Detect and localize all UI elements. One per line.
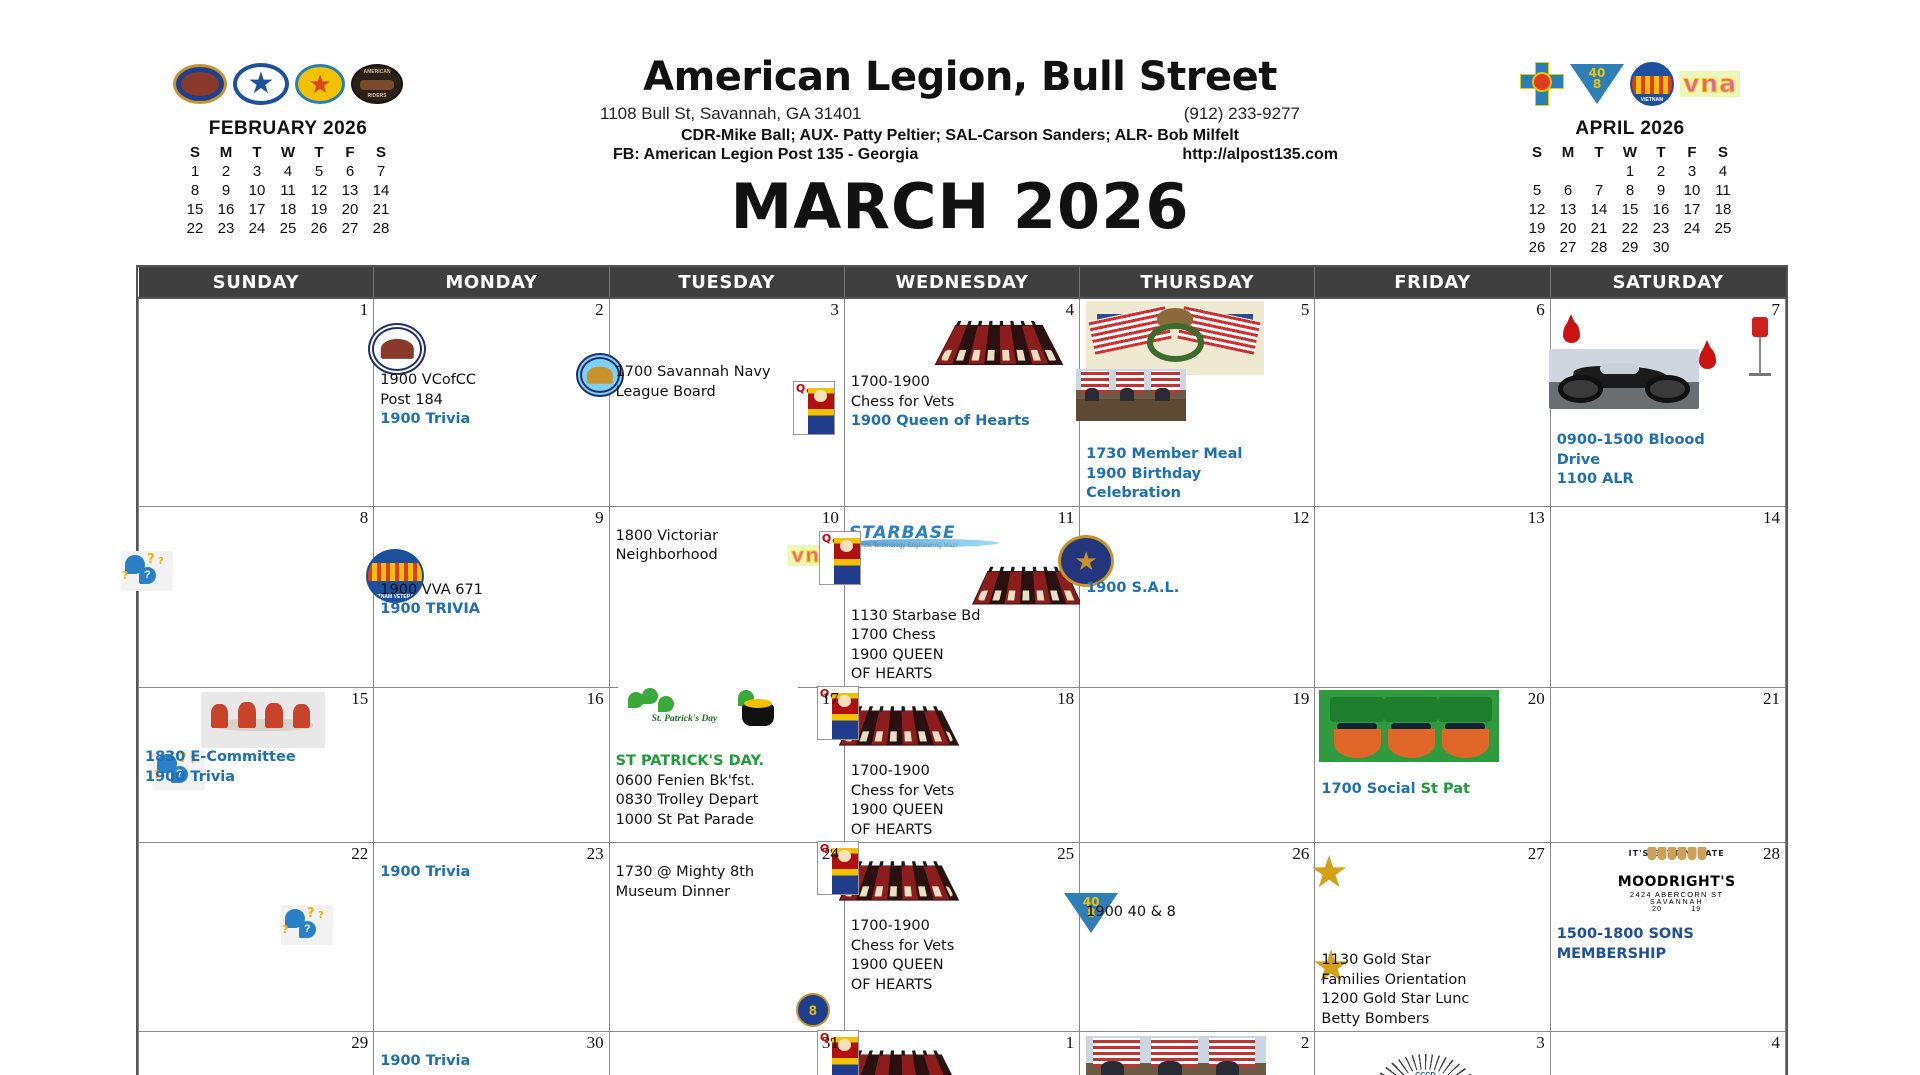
calendar-event[interactable]: 1100 ALR	[1557, 470, 1780, 490]
prev-month-dow-4: T	[304, 143, 335, 162]
day-events	[1080, 688, 1314, 842]
prev-month-day[interactable]: 10	[242, 181, 273, 200]
day-number: 9	[595, 508, 604, 528]
prev-month-day[interactable]: 17	[242, 200, 273, 219]
calendar-event[interactable]: 0830 Trolley Depart	[616, 791, 839, 811]
previous-month-title: FEBRUARY 2026	[138, 118, 438, 140]
next-month-dow-1: M	[1553, 143, 1584, 162]
calendar-day-cell[interactable]: 16	[374, 687, 609, 842]
next-month-day[interactable]: 19	[1522, 219, 1553, 238]
page-header: ★ ★ AMERICANRIDERS FEBRUARY 2026 SMTWTFS…	[0, 0, 1920, 262]
previous-month-mini-calendar: ★ ★ AMERICANRIDERS FEBRUARY 2026 SMTWTFS…	[138, 52, 438, 238]
prev-month-day[interactable]: 13	[335, 181, 366, 200]
prev-month-day[interactable]: 27	[335, 219, 366, 238]
next-month-day[interactable]: 20	[1553, 219, 1584, 238]
next-month-day[interactable]: 25	[1708, 219, 1739, 238]
prev-month-day[interactable]: 1	[180, 162, 211, 181]
prev-month-day[interactable]: 24	[242, 219, 273, 238]
calendar-event[interactable]: 1900 40 & 8	[1086, 903, 1309, 923]
day-number: 27	[1528, 844, 1545, 864]
calendar-event[interactable]: ST PATRICK'S DAY.	[616, 752, 839, 772]
calendar-event[interactable]: Betty Bombers	[1321, 1010, 1544, 1030]
calendar-event[interactable]: 1900 S.A.L.	[1086, 579, 1309, 599]
next-month-day	[1522, 162, 1553, 181]
calendar-event[interactable]: Drive	[1557, 451, 1780, 471]
calendar-table: SUNDAYMONDAYTUESDAYWEDNESDAYTHURSDAYFRID…	[138, 267, 1786, 1075]
day-number: 2	[1301, 1033, 1310, 1053]
calendar-day-cell[interactable]: 27★ ★1130 Gold StarFamilies Orientation1…	[1315, 843, 1550, 1032]
day-events	[610, 1032, 844, 1075]
day-events	[1315, 299, 1549, 506]
day-events	[139, 299, 373, 506]
calendar-day-cell[interactable]: 31	[609, 1032, 844, 1075]
calendar-day-cell[interactable]: 4 Q♥1700-1900Chess for Vets1900 Queen of…	[844, 298, 1079, 506]
calendar-day-cell[interactable]: 8????	[139, 506, 374, 687]
calendar-event[interactable]: 1500-1800 SONS	[1557, 925, 1780, 945]
day-number: 30	[587, 1033, 604, 1053]
page-title: MARCH 2026	[560, 176, 1360, 238]
calendar-day-cell[interactable]: 18 Q♥1700-1900Chess for Vets1900 QUEENOF…	[844, 687, 1079, 842]
calendar-event[interactable]: 1900 TRIVIA	[380, 600, 603, 620]
calendar-week-row: 15 ????1830 E-Committee1900 Trivia1617 S…	[139, 687, 1786, 842]
right-emblem-row: 408 VIETNAM vna	[1480, 52, 1780, 116]
day-number: 19	[1292, 689, 1309, 709]
day-number: 13	[1528, 508, 1545, 528]
calendar-dow-header-monday: MONDAY	[374, 267, 609, 298]
american-legion-auxiliary-emblem-icon	[173, 64, 227, 104]
calendar-body: 121900 VCofCCPost 1841900 Trivia31700 Sa…	[139, 298, 1786, 1075]
day-events: 1900 Trivia	[374, 1032, 608, 1075]
prev-month-day[interactable]: 21	[366, 200, 397, 219]
calendar-dow-header-friday: FRIDAY	[1315, 267, 1550, 298]
prev-month-day[interactable]: 5	[304, 162, 335, 181]
prev-month-week: 1234567	[180, 162, 397, 181]
prev-month-week: 22232425262728	[180, 219, 397, 238]
next-month-day[interactable]: 24	[1677, 219, 1708, 238]
day-events	[1551, 507, 1785, 687]
st-patricks-parade-photo	[1319, 690, 1499, 762]
next-month-day[interactable]: 8	[1615, 181, 1646, 200]
month-calendar: SUNDAYMONDAYTUESDAYWEDNESDAYTHURSDAYFRID…	[136, 265, 1788, 1075]
next-month-dow-2: T	[1584, 143, 1615, 162]
next-month-day[interactable]: 26	[1522, 238, 1553, 257]
next-month-dow-4: T	[1646, 143, 1677, 162]
prev-month-dow-0: S	[180, 143, 211, 162]
queen-of-hearts-card-icon: Q♥	[819, 531, 861, 585]
day-number: 21	[1763, 689, 1780, 709]
next-month-day[interactable]: 4	[1708, 162, 1739, 181]
calendar-day-cell[interactable]: 1 Q♥1700-1900Chess for Vets1900 QUEENHEA…	[844, 1032, 1079, 1075]
day-number: 4	[1772, 1033, 1781, 1053]
address-row: 1108 Bull St, Savannah, GA 31401 (912) 2…	[560, 104, 1360, 126]
calendar-day-cell[interactable]: 264081900 40 & 8	[1080, 843, 1315, 1032]
calendar-header-row: SUNDAYMONDAYTUESDAYWEDNESDAYTHURSDAYFRID…	[139, 267, 1786, 298]
calendar-day-cell[interactable]: 25 Q♥1700-1900Chess for Vets1900 QUEENOF…	[844, 843, 1079, 1032]
calendar-event[interactable]: 1900 Trivia	[380, 410, 603, 430]
prev-month-dow-5: F	[335, 143, 366, 162]
forty-and-eight-triangle-emblem-icon: 408	[1570, 64, 1624, 104]
next-month-week: 12131415161718	[1522, 200, 1739, 219]
calendar-event[interactable]: 1900 QUEEN	[851, 646, 1074, 666]
calendar-event[interactable]: OF HEARTS	[851, 821, 1074, 841]
queen-of-hearts-card-icon: Q♥	[793, 381, 835, 435]
calendar-day-cell[interactable]: 21900 VCofCCPost 1841900 Trivia	[374, 298, 609, 506]
calendar-event[interactable]: 1730 @ Mighty 8th	[616, 863, 839, 883]
calendar-day-cell[interactable]: 10vna1800 VictoriarNeighborhood	[609, 506, 844, 687]
vietnam-veterans-emblem-icon: VIETNAM	[1630, 62, 1674, 106]
calendar-day-cell[interactable]: 3 CCCDFIRST DAY GOOD FRIDAY	[1315, 1032, 1550, 1075]
calendar-week-row: 8????9VIETNAM VETERANS1900 VVA 6711900 T…	[139, 506, 1786, 687]
day-number: 25	[1057, 844, 1074, 864]
prev-month-day[interactable]: 25	[273, 219, 304, 238]
calendar-day-cell[interactable]: 17 St. Patrick's Day ST PATRICK'S DAY.06…	[609, 687, 844, 842]
prev-month-dow-1: M	[211, 143, 242, 162]
calendar-day-cell[interactable]: 7 0900-1500 BlooodDrive1100 ALR	[1550, 298, 1785, 506]
prev-month-day[interactable]: 6	[335, 162, 366, 181]
calendar-event[interactable]: 1130 Starbase Bd	[851, 607, 1074, 627]
american-legion-riders-emblem-icon: AMERICANRIDERS	[351, 64, 403, 104]
calendar-week-row: 22????231900 Trivia24 81730 @ Mighty 8th…	[139, 843, 1786, 1032]
calendar-event[interactable]: 1700 Social St Pat	[1321, 780, 1544, 800]
calendar-event[interactable]: 0900-1500 Bloood	[1557, 431, 1780, 451]
day-number: 12	[1292, 508, 1309, 528]
calendar-event[interactable]: 1900 Queen of Hearts	[851, 412, 1074, 432]
facebook-line: FB: American Legion Post 135 - Georgia	[613, 146, 918, 164]
calendar-event[interactable]: 1900 Birthday	[1086, 465, 1309, 485]
next-month-day[interactable]: 15	[1615, 200, 1646, 219]
calendar-dow-header-thursday: THURSDAY	[1080, 267, 1315, 298]
prev-month-dow-3: W	[273, 143, 304, 162]
day-number: 28	[1763, 844, 1780, 864]
day-number: 5	[1301, 300, 1310, 320]
calendar-day-cell[interactable]: 6	[1315, 298, 1550, 506]
calendar-dow-header-wednesday: WEDNESDAY	[844, 267, 1079, 298]
day-number: 24	[822, 844, 839, 864]
day-number: 10	[822, 508, 839, 528]
calendar-event[interactable]: Chess for Vets	[851, 782, 1074, 802]
next-month-grid: SMTWTFS 12345678910111213141516171819202…	[1522, 143, 1739, 257]
next-month-week: 1234	[1522, 162, 1739, 181]
calendar-day-cell[interactable]: 231900 Trivia	[374, 843, 609, 1032]
next-month-day[interactable]: 17	[1677, 200, 1708, 219]
day-number: 22	[351, 844, 368, 864]
calendar-event[interactable]: 1900 Trivia	[380, 1052, 603, 1072]
calendar-day-cell[interactable]: 24 81730 @ Mighty 8thMuseum Dinner	[609, 843, 844, 1032]
day-events: 1900 Trivia	[374, 843, 608, 1031]
calendar-dow-header-saturday: SATURDAY	[1550, 267, 1785, 298]
member-meeting-photo	[1076, 369, 1186, 421]
day-number: 31	[822, 1033, 839, 1053]
prev-month-day[interactable]: 19	[304, 200, 335, 219]
day-number: 4	[1066, 300, 1075, 320]
calendar-event[interactable]: MEMBERSHIP	[1557, 945, 1780, 965]
calendar-event[interactable]: 1700-1900	[851, 762, 1074, 782]
next-month-day	[1708, 238, 1739, 257]
prev-month-day[interactable]: 11	[273, 181, 304, 200]
iv-stand-icon	[1752, 317, 1771, 376]
next-month-day[interactable]: 16	[1646, 200, 1677, 219]
next-month-week: 2627282930	[1522, 238, 1739, 257]
calendar-day-cell[interactable]: 22????	[139, 843, 374, 1032]
calendar-event[interactable]: Celebration	[1086, 484, 1309, 504]
next-month-day[interactable]: 7	[1584, 181, 1615, 200]
prev-month-day[interactable]: 7	[366, 162, 397, 181]
prev-month-day[interactable]: 20	[335, 200, 366, 219]
prev-month-day[interactable]: 28	[366, 219, 397, 238]
day-events: 1800 VictoriarNeighborhood	[610, 507, 844, 687]
next-month-day[interactable]: 5	[1522, 181, 1553, 200]
calendar-day-cell[interactable]: 9VIETNAM VETERANS1900 VVA 6711900 TRIVIA	[374, 506, 609, 687]
previous-month-grid: SMTWTFS 12345678910111213141516171819202…	[180, 143, 397, 238]
next-month-day[interactable]: 22	[1615, 219, 1646, 238]
next-month-dow-5: F	[1677, 143, 1708, 162]
prev-month-day[interactable]: 15	[180, 200, 211, 219]
calendar-day-cell[interactable]: 19	[1080, 687, 1315, 842]
day-number: 23	[587, 844, 604, 864]
calendar-event[interactable]: Neighborhood	[616, 546, 839, 566]
next-month-day[interactable]: 3	[1677, 162, 1708, 181]
next-month-dow-6: S	[1708, 143, 1739, 162]
prev-month-day[interactable]: 3	[242, 162, 273, 181]
day-number: 3	[1536, 1033, 1545, 1053]
next-month-week: 567891011	[1522, 181, 1739, 200]
calendar-event[interactable]: Post 184	[380, 391, 603, 411]
prev-month-day[interactable]: 2	[211, 162, 242, 181]
prev-month-day[interactable]: 26	[304, 219, 335, 238]
gold-star-icon: ★	[1309, 851, 1543, 895]
calendar-week-row: 29????301900 Trivia311 Q♥1700-1900Chess …	[139, 1032, 1786, 1075]
calendar-day-cell[interactable]: 12★1900 S.A.L.	[1080, 506, 1315, 687]
st-patricks-day-clover-art: St. Patrick's Day	[618, 686, 798, 730]
officers-line: CDR-Mike Ball; AUX- Patty Peltier; SAL-C…	[560, 127, 1360, 145]
day-events	[1315, 507, 1549, 687]
prev-month-week: 15161718192021	[180, 200, 397, 219]
calendar-event[interactable]: 0600 Fenien Bk'fst.	[616, 772, 839, 792]
sons-of-the-american-legion-emblem-icon: ★	[295, 64, 345, 104]
calendar-day-cell[interactable]: 301900 Trivia	[374, 1032, 609, 1075]
next-month-week: 19202122232425	[1522, 219, 1739, 238]
calendar-day-cell[interactable]: 29????	[139, 1032, 374, 1075]
prev-month-day[interactable]: 22	[180, 219, 211, 238]
prev-month-day[interactable]: 12	[304, 181, 335, 200]
prev-month-day[interactable]: 18	[273, 200, 304, 219]
contact-row: FB: American Legion Post 135 - Georgia h…	[560, 146, 1360, 167]
calendar-day-cell[interactable]: 1	[139, 298, 374, 506]
calendar-day-cell[interactable]: 15 ????1830 E-Committee1900 Trivia	[139, 687, 374, 842]
calendar-dow-header-sunday: SUNDAY	[139, 267, 374, 298]
next-month-day[interactable]: 12	[1522, 200, 1553, 219]
day-number: 7	[1772, 300, 1781, 320]
day-number: 17	[822, 689, 839, 709]
address-text: 1108 Bull St, Savannah, GA 31401	[600, 104, 862, 124]
calendar-event[interactable]: 1900 Trivia	[380, 863, 603, 883]
next-month-day[interactable]: 18	[1708, 200, 1739, 219]
next-month-day	[1553, 162, 1584, 181]
member-meeting-photo	[1086, 1036, 1266, 1075]
day-events	[374, 688, 608, 842]
good-friday-cross-art-icon: CCCDFIRST DAY	[1371, 1054, 1479, 1075]
next-month-day[interactable]: 10	[1677, 181, 1708, 200]
calendar-day-cell[interactable]: 4	[1550, 1032, 1785, 1075]
day-number: 6	[1536, 300, 1545, 320]
blood-drop-icon	[1699, 347, 1719, 373]
next-month-day[interactable]: 6	[1553, 181, 1584, 200]
next-month-mini-calendar: 408 VIETNAM vna APRIL 2026 SMTWTFS 12345…	[1480, 52, 1780, 257]
prev-month-day[interactable]: 23	[211, 219, 242, 238]
calendar-event[interactable]: 1900 VCofCC	[380, 371, 603, 391]
left-emblem-row: ★ ★ AMERICANRIDERS	[138, 52, 438, 116]
chessboard-icon	[849, 1046, 949, 1075]
forty-and-eight-cross-emblem-icon	[1520, 62, 1564, 106]
next-month-day[interactable]: 30	[1646, 238, 1677, 257]
calendar-page: ★ ★ AMERICANRIDERS FEBRUARY 2026 SMTWTFS…	[0, 0, 1920, 1075]
organization-name: American Legion, Bull Street	[560, 56, 1360, 98]
next-month-day	[1677, 238, 1708, 257]
day-number: 29	[351, 1033, 368, 1053]
calendar-day-cell[interactable]: 13	[1315, 506, 1550, 687]
prev-month-day[interactable]: 9	[211, 181, 242, 200]
vna-logo-icon: vna	[1680, 71, 1740, 97]
next-month-day[interactable]: 27	[1553, 238, 1584, 257]
blood-drop-icon	[1563, 321, 1583, 347]
next-month-day[interactable]: 11	[1708, 181, 1739, 200]
calendar-event[interactable]: 1800 Victoriar	[616, 527, 839, 547]
day-number: 11	[1058, 508, 1074, 528]
calendar-event[interactable]: 1900 VVA 671	[380, 581, 603, 601]
next-month-day[interactable]: 2	[1646, 162, 1677, 181]
moodrights-logo-icon: IT'S GETTIN' LATE MOODRIGHT'S 2424 ABERC…	[1597, 849, 1757, 911]
calendar-day-cell[interactable]: 28 IT'S GETTIN' LATE MOODRIGHT'S 2424 AB…	[1550, 843, 1785, 1032]
day-number: 26	[1292, 844, 1309, 864]
day-number: 8	[360, 508, 369, 528]
calendar-event[interactable]: 1700 Chess	[851, 626, 1074, 646]
calendar-dow-header-tuesday: TUESDAY	[609, 267, 844, 298]
calendar-day-cell[interactable]: 11STARBASEScience Technology Engineering…	[844, 506, 1079, 687]
day-number: 2	[595, 300, 604, 320]
patriotic-flags-eagle-art	[1086, 301, 1264, 375]
calendar-event[interactable]: 1830 E-Committee	[145, 748, 368, 768]
calendar-day-cell[interactable]: 20 1700 Social St Pat	[1315, 687, 1550, 842]
calendar-event[interactable]: 1130 Gold Star	[1321, 951, 1544, 971]
header-text-block: American Legion, Bull Street 1108 Bull S…	[560, 56, 1360, 167]
day-number: 1	[1066, 1033, 1075, 1053]
calendar-event[interactable]: 1000 St Pat Parade	[616, 811, 839, 831]
calendar-event[interactable]: 1730 Member Meal	[1086, 445, 1309, 465]
prev-month-day[interactable]: 16	[211, 200, 242, 219]
prev-month-day[interactable]: 14	[366, 181, 397, 200]
day-number: 3	[830, 300, 839, 320]
motorcycle-photo	[1549, 349, 1699, 409]
day-number: 14	[1763, 508, 1780, 528]
day-events	[1551, 688, 1785, 842]
prev-month-day[interactable]: 8	[180, 181, 211, 200]
calendar-week-row: 121900 VCofCCPost 1841900 Trivia31700 Sa…	[139, 298, 1786, 506]
next-month-day[interactable]: 13	[1553, 200, 1584, 219]
next-month-day[interactable]: 9	[1646, 181, 1677, 200]
next-month-dow-3: W	[1615, 143, 1646, 162]
calendar-event[interactable]: 1200 Gold Star Lunc	[1321, 990, 1544, 1010]
starbase-logo-icon: STARBASEScience Technology Engineering M…	[849, 523, 999, 549]
website-link[interactable]: http://alpost135.com	[1182, 146, 1338, 164]
day-number: 20	[1528, 689, 1545, 709]
calendar-event[interactable]: Chess for Vets	[851, 937, 1074, 957]
calendar-day-cell[interactable]: 14	[1550, 506, 1785, 687]
day-number: 1	[360, 300, 369, 320]
calendar-event[interactable]: Museum Dinner	[616, 883, 839, 903]
day-number: 18	[1057, 689, 1074, 709]
calendar-event[interactable]: OF HEARTS	[851, 976, 1074, 996]
calendar-event[interactable]: 1900 QUEEN	[851, 956, 1074, 976]
next-month-day[interactable]: 14	[1584, 200, 1615, 219]
day-number: 15	[351, 689, 368, 709]
calendar-day-cell[interactable]: 5 1730 Member Meal1900 BirthdayCelebrati…	[1080, 298, 1315, 506]
calendar-event[interactable]: 1700-1900	[851, 917, 1074, 937]
calendar-day-cell[interactable]: 21	[1550, 687, 1785, 842]
calendar-day-cell[interactable]: 21900 GeneralMembership	[1080, 1032, 1315, 1075]
prev-month-dow-2: T	[242, 143, 273, 162]
day-events	[1551, 1032, 1785, 1075]
next-month-title: APRIL 2026	[1480, 118, 1780, 140]
prev-month-day[interactable]: 4	[273, 162, 304, 181]
calendar-event[interactable]: Chess for Vets	[851, 393, 1074, 413]
phone-number: (912) 233-9277	[1184, 104, 1300, 124]
day-events: 1730 @ Mighty 8thMuseum Dinner	[610, 843, 844, 1031]
prev-month-dow-6: S	[366, 143, 397, 162]
next-month-day[interactable]: 21	[1584, 219, 1615, 238]
next-month-dow-0: S	[1522, 143, 1553, 162]
calendar-event[interactable]: 1700-1900	[851, 373, 1074, 393]
next-month-day	[1584, 162, 1615, 181]
prev-month-week: 891011121314	[180, 181, 397, 200]
calendar-event[interactable]: 1900 Trivia	[145, 768, 368, 788]
next-month-day[interactable]: 23	[1646, 219, 1677, 238]
calendar-event[interactable]: 1900 QUEEN	[851, 801, 1074, 821]
american-legion-emblem-icon: ★	[233, 63, 289, 105]
calendar-event[interactable]: 1700 Savannah Navy	[616, 363, 839, 383]
calendar-event[interactable]: OF HEARTS	[851, 665, 1074, 685]
calendar-event[interactable]: Families Orientation	[1321, 971, 1544, 991]
day-number: 16	[587, 689, 604, 709]
next-month-day[interactable]: 1	[1615, 162, 1646, 181]
next-month-day[interactable]: 29	[1615, 238, 1646, 257]
next-month-day[interactable]: 28	[1584, 238, 1615, 257]
